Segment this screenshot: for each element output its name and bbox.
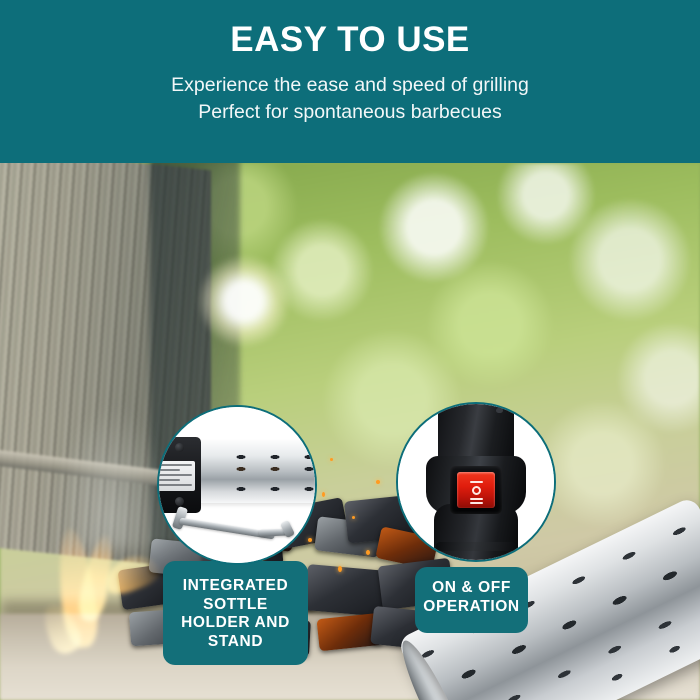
handle-nub	[496, 408, 503, 413]
wire-stand-bottle-opener	[175, 507, 297, 543]
subtitle-line-1: Experience the ease and speed of grillin…	[171, 72, 529, 99]
product-infographic: EASY TO USE Experience the ease and spee…	[0, 0, 700, 700]
housing-screw	[175, 497, 184, 506]
switch-bezel	[450, 466, 502, 514]
housing-screw	[175, 443, 184, 452]
inset-on-off-switch	[398, 404, 554, 560]
callout-label-on-off-operation: ON & OFF OPERATION	[415, 567, 528, 633]
switch-off-circle-icon	[472, 486, 481, 495]
rating-label	[157, 461, 195, 491]
subtitle-line-2: Perfect for spontaneous barbecues	[171, 99, 529, 126]
subtitle: Experience the ease and speed of grillin…	[171, 59, 529, 126]
barrel-perforations	[185, 441, 317, 503]
callout-image-on-off-operation	[396, 402, 556, 562]
switch-equals-icon	[470, 498, 483, 500]
sun-flare	[198, 255, 290, 347]
header-banner: EASY TO USE Experience the ease and spee…	[0, 0, 700, 163]
power-rocker-switch[interactable]	[457, 472, 495, 508]
inset-integrated-stand	[159, 407, 315, 563]
switch-on-dash-icon	[470, 481, 483, 483]
callout-label-text: ON & OFF OPERATION	[415, 579, 528, 616]
callout-label-integrated-stand: INTEGRATED SOTTLE HOLDER AND STAND	[163, 561, 308, 665]
handle-ring	[436, 542, 516, 551]
callout-label-text: INTEGRATED SOTTLE HOLDER AND STAND	[167, 577, 304, 651]
product-photo: INTEGRATED SOTTLE HOLDER AND STAND	[0, 163, 700, 700]
page-title: EASY TO USE	[230, 22, 470, 59]
callout-image-integrated-stand	[157, 405, 317, 565]
